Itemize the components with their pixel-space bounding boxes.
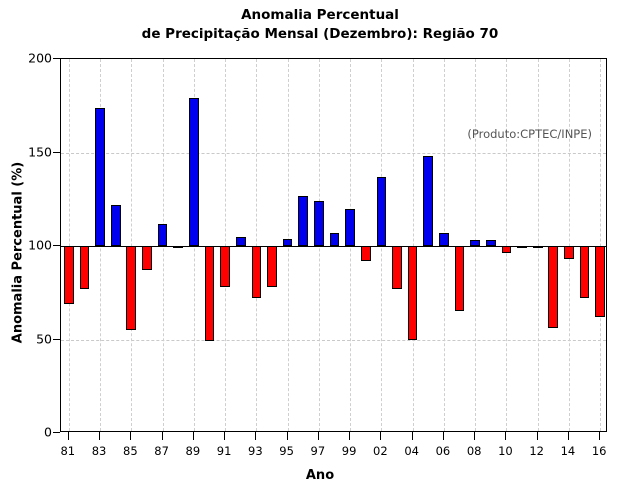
x-tick-mark-91 xyxy=(224,432,225,440)
y-tick-label-150: 150 xyxy=(28,144,52,159)
x-tick-label-04: 04 xyxy=(404,444,419,458)
bar-1991 xyxy=(220,246,230,287)
x-tick-mark-81 xyxy=(68,432,69,440)
bar-1996 xyxy=(298,196,308,246)
bar-1989 xyxy=(189,98,199,246)
source-annotation: (Produto:CPTEC/INPE) xyxy=(467,127,592,141)
bar-1982 xyxy=(80,246,90,289)
baseline-100-line xyxy=(61,246,606,247)
x-tick-label-97: 97 xyxy=(311,444,326,458)
y-tick-label-100: 100 xyxy=(28,238,52,253)
x-tick-mark-87 xyxy=(162,432,163,440)
chart-title-line-2: de Precipitação Mensal (Dezembro): Regiã… xyxy=(0,25,640,44)
x-tick-mark-95 xyxy=(287,432,288,440)
bar-2014 xyxy=(580,246,590,298)
bar-1983 xyxy=(95,108,105,246)
x-tick-mark-02 xyxy=(380,432,381,440)
x-tick-label-14: 14 xyxy=(561,444,576,458)
x-axis-title: Ano xyxy=(0,468,640,483)
x-tick-label-81: 81 xyxy=(60,444,75,458)
x-tick-label-91: 91 xyxy=(217,444,232,458)
x-tick-mark-97 xyxy=(318,432,319,440)
y-tick-mark-0 xyxy=(53,432,60,433)
bar-2001 xyxy=(377,177,387,246)
bar-2004 xyxy=(423,156,433,246)
bar-2002 xyxy=(392,246,402,289)
x-tick-label-12: 12 xyxy=(529,444,544,458)
y-tick-mark-100 xyxy=(53,245,60,246)
bar-1984 xyxy=(111,205,121,246)
y-tick-mark-50 xyxy=(53,339,60,340)
bar-1985 xyxy=(126,246,136,330)
bar-2006 xyxy=(455,246,465,311)
chart-title: Anomalia Percentual de Precipitação Mens… xyxy=(0,6,640,44)
y-axis-tick-labels: 050100150200 xyxy=(0,0,52,500)
x-tick-label-06: 06 xyxy=(436,444,451,458)
x-tick-mark-83 xyxy=(99,432,100,440)
x-tick-label-99: 99 xyxy=(342,444,357,458)
x-tick-mark-85 xyxy=(130,432,131,440)
x-tick-label-02: 02 xyxy=(373,444,388,458)
bar-1981 xyxy=(64,246,74,304)
x-tick-label-10: 10 xyxy=(498,444,513,458)
chart-title-line-1: Anomalia Percentual xyxy=(0,6,640,25)
bar-1995 xyxy=(283,239,293,246)
x-tick-label-08: 08 xyxy=(467,444,482,458)
y-tick-label-50: 50 xyxy=(36,331,52,346)
x-tick-mark-08 xyxy=(474,432,475,440)
bar-2005 xyxy=(439,233,449,246)
bar-2012 xyxy=(548,246,558,328)
x-tick-mark-93 xyxy=(255,432,256,440)
bar-1993 xyxy=(252,246,262,298)
y-tick-label-0: 0 xyxy=(44,425,52,440)
x-tick-mark-12 xyxy=(537,432,538,440)
chart-figure: Anomalia Percentual de Precipitação Mens… xyxy=(0,0,640,500)
bar-1994 xyxy=(267,246,277,287)
x-tick-mark-14 xyxy=(568,432,569,440)
x-tick-mark-99 xyxy=(349,432,350,440)
bar-2000 xyxy=(361,246,371,261)
x-tick-label-89: 89 xyxy=(186,444,201,458)
bar-2003 xyxy=(408,246,418,340)
x-tick-mark-10 xyxy=(505,432,506,440)
bar-1992 xyxy=(236,237,246,246)
bar-2013 xyxy=(564,246,574,259)
x-tick-mark-16 xyxy=(599,432,600,440)
bar-1997 xyxy=(314,201,324,246)
x-tick-mark-06 xyxy=(443,432,444,440)
x-tick-label-83: 83 xyxy=(92,444,107,458)
y-tick-mark-200 xyxy=(53,58,60,59)
x-tick-label-93: 93 xyxy=(248,444,263,458)
bar-series xyxy=(61,59,606,431)
x-tick-label-85: 85 xyxy=(123,444,138,458)
x-tick-label-87: 87 xyxy=(154,444,169,458)
bar-1987 xyxy=(158,224,168,246)
x-tick-label-95: 95 xyxy=(279,444,294,458)
bar-1998 xyxy=(330,233,340,246)
bar-1986 xyxy=(142,246,152,270)
y-tick-label-200: 200 xyxy=(28,51,52,66)
plot-area: (Produto:CPTEC/INPE) xyxy=(60,58,607,432)
bar-1990 xyxy=(205,246,215,341)
x-tick-mark-89 xyxy=(193,432,194,440)
bar-2009 xyxy=(502,246,512,253)
bar-2015 xyxy=(595,246,605,317)
bar-1999 xyxy=(345,209,355,246)
y-tick-mark-150 xyxy=(53,152,60,153)
x-tick-label-16: 16 xyxy=(592,444,607,458)
x-tick-mark-04 xyxy=(412,432,413,440)
